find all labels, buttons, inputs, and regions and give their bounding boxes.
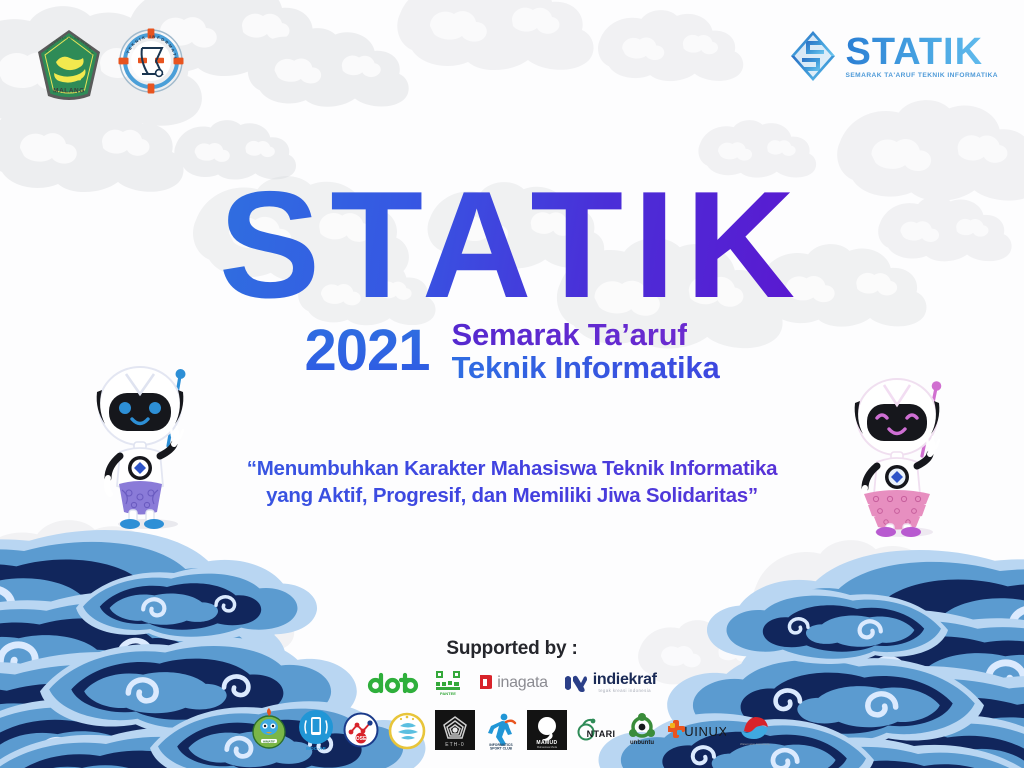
mamud-logo: MAMUD Mahasiswa Muda	[527, 710, 567, 750]
sponsor-inagata-label: inagata	[497, 674, 547, 692]
hero-subtitle-row: 2021 Semarak Ta’aruf Teknik Informatika	[0, 318, 1024, 385]
community-logo-moc-ap[interactable]: MOC-AP	[298, 709, 334, 751]
community-logo-ontari[interactable]: NTARI	[576, 715, 616, 745]
community-caption-moc-ap: MOC-AP	[306, 746, 326, 751]
moc-ap-logo	[298, 709, 334, 745]
sponsor-inagata[interactable]: inagata	[477, 673, 547, 693]
community-logo-unbuntu[interactable]: unbuntu	[625, 713, 659, 747]
watermelon-community-logo: Watermelon Community	[735, 713, 775, 747]
community-logo-ose[interactable]: OSE	[343, 712, 379, 748]
sponsor-pantee[interactable]: PANTEE	[435, 670, 461, 696]
eth-0-logo: ETH-0	[435, 710, 475, 750]
community-logo-watermelon[interactable]: Watermelon Community	[735, 713, 775, 747]
event-tagline: “Menumbuhkan Karakter Mahasiswa Teknik I…	[0, 455, 1024, 510]
supported-by-label: Supported by :	[0, 638, 1024, 660]
pmii-logo	[388, 710, 426, 750]
poster-canvas: MALANG UNIVERSITAS ISLAM NEGERI MAULANA	[0, 0, 1024, 768]
institution-logos: MALANG UNIVERSITAS ISLAM NEGERI MAULANA	[34, 28, 184, 104]
svg-text:PANTEE: PANTEE	[440, 691, 456, 696]
community-logo-uinux[interactable]: UINUX	[668, 717, 726, 743]
statik-diamond-s-mark	[790, 30, 836, 82]
sponsor-logo-row: PANTEE inagata	[0, 670, 1024, 696]
svg-text:OSE: OSE	[356, 736, 367, 742]
supported-by-section: Supported by :	[0, 638, 1024, 696]
community-logo-sport-club[interactable]: INFORMATICS SPORT CLUB	[484, 710, 518, 750]
event-subtitle: Semarak Ta’aruf Teknik Informatika	[452, 318, 720, 385]
svg-text:unbuntu: unbuntu	[630, 740, 654, 746]
svg-text:HIMATIF: HIMATIF	[263, 739, 275, 743]
hero-section: STATIK 2021 Semarak Ta’aruf Teknik Infor…	[0, 176, 1024, 385]
community-logo-mamud[interactable]: MAMUD Mahasiswa Muda	[527, 710, 567, 750]
informatics-sport-club-logo: INFORMATICS SPORT CLUB	[484, 710, 518, 750]
indiekraf-mark	[564, 674, 588, 692]
community-logo-pmii[interactable]	[388, 710, 426, 750]
statik-brand-logo: STATIK SEMARAK TA'ARUF TEKNIK INFORMATIK…	[790, 30, 998, 82]
community-logo-row: HIMATIF MOC-AP	[0, 708, 1024, 752]
inagata-mark	[477, 673, 492, 693]
svg-text:Watermelon Community: Watermelon Community	[740, 742, 770, 746]
tagline-line-1: “Menumbuhkan Karakter Mahasiswa Teknik I…	[0, 455, 1024, 482]
svg-text:UINUX: UINUX	[684, 724, 726, 739]
ose-logo: OSE	[343, 712, 379, 748]
uinux-logo: UINUX	[668, 717, 726, 743]
unbuntu-logo: unbuntu	[625, 713, 659, 747]
ontari-logo: NTARI	[576, 715, 616, 745]
tagline-line-2: yang Aktif, Progresif, dan Memiliki Jiwa…	[0, 482, 1024, 509]
page-title: STATIK	[219, 176, 805, 316]
community-logo-himatif[interactable]: HIMATIF	[249, 708, 289, 752]
uin-maulana-malik-ibrahim-malang-logo: MALANG UNIVERSITAS ISLAM NEGERI MAULANA	[34, 28, 104, 104]
dot-indonesia-logo	[367, 672, 419, 694]
event-subtitle-line-2: Teknik Informatika	[452, 350, 720, 385]
statik-brand-subtitle: SEMARAK TA'ARUF TEKNIK INFORMATIKA	[845, 73, 998, 80]
event-subtitle-line-1: Semarak Ta’aruf	[452, 317, 688, 352]
sponsor-indiekraf[interactable]: indiekraf tegak kreasi indonesia	[564, 672, 657, 693]
svg-text:Mahasiswa Muda: Mahasiswa Muda	[537, 745, 558, 749]
svg-text:NTARI: NTARI	[587, 729, 616, 739]
svg-text:ETH-0: ETH-0	[445, 742, 464, 748]
pantee-logo: PANTEE	[435, 670, 461, 696]
sponsor-indiekraf-tagline: tegak kreasi indonesia	[593, 689, 657, 693]
himatif-mascot-logo: HIMATIF	[249, 708, 289, 752]
svg-text:SPORT CLUB: SPORT CLUB	[490, 746, 513, 750]
statik-brand-word: STATIK	[845, 33, 998, 71]
event-year: 2021	[304, 322, 429, 380]
teknik-informatika-logo: TEKNIK INFORMATIKA	[118, 28, 184, 94]
sponsor-indiekraf-label: indiekraf	[593, 672, 657, 688]
svg-text:MALANG: MALANG	[53, 88, 85, 95]
community-logo-eth-0[interactable]: ETH-0	[435, 710, 475, 750]
sponsor-dot[interactable]	[367, 672, 419, 694]
